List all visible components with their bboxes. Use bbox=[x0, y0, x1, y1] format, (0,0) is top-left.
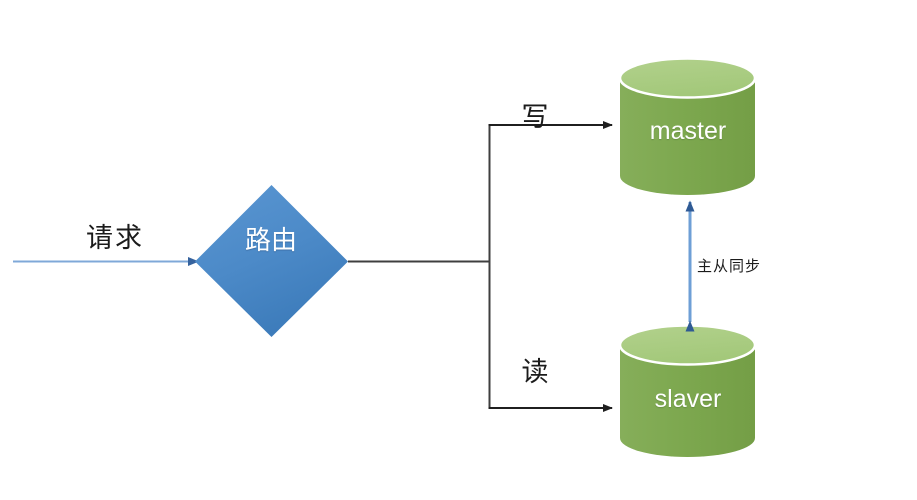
node-router[interactable] bbox=[195, 185, 348, 337]
edge-label-sync: 主从同步 bbox=[697, 255, 787, 276]
edge-label-write: 写 bbox=[505, 95, 565, 134]
node-master[interactable] bbox=[620, 59, 755, 196]
edge-label-request: 请求 bbox=[60, 216, 170, 255]
node-slaver[interactable] bbox=[620, 326, 755, 458]
edge-branch-trunk bbox=[348, 125, 490, 408]
edge-label-read: 读 bbox=[505, 350, 565, 389]
diagram-canvas: 请求 写 读 主从同步 路由 master slaver bbox=[0, 0, 917, 500]
